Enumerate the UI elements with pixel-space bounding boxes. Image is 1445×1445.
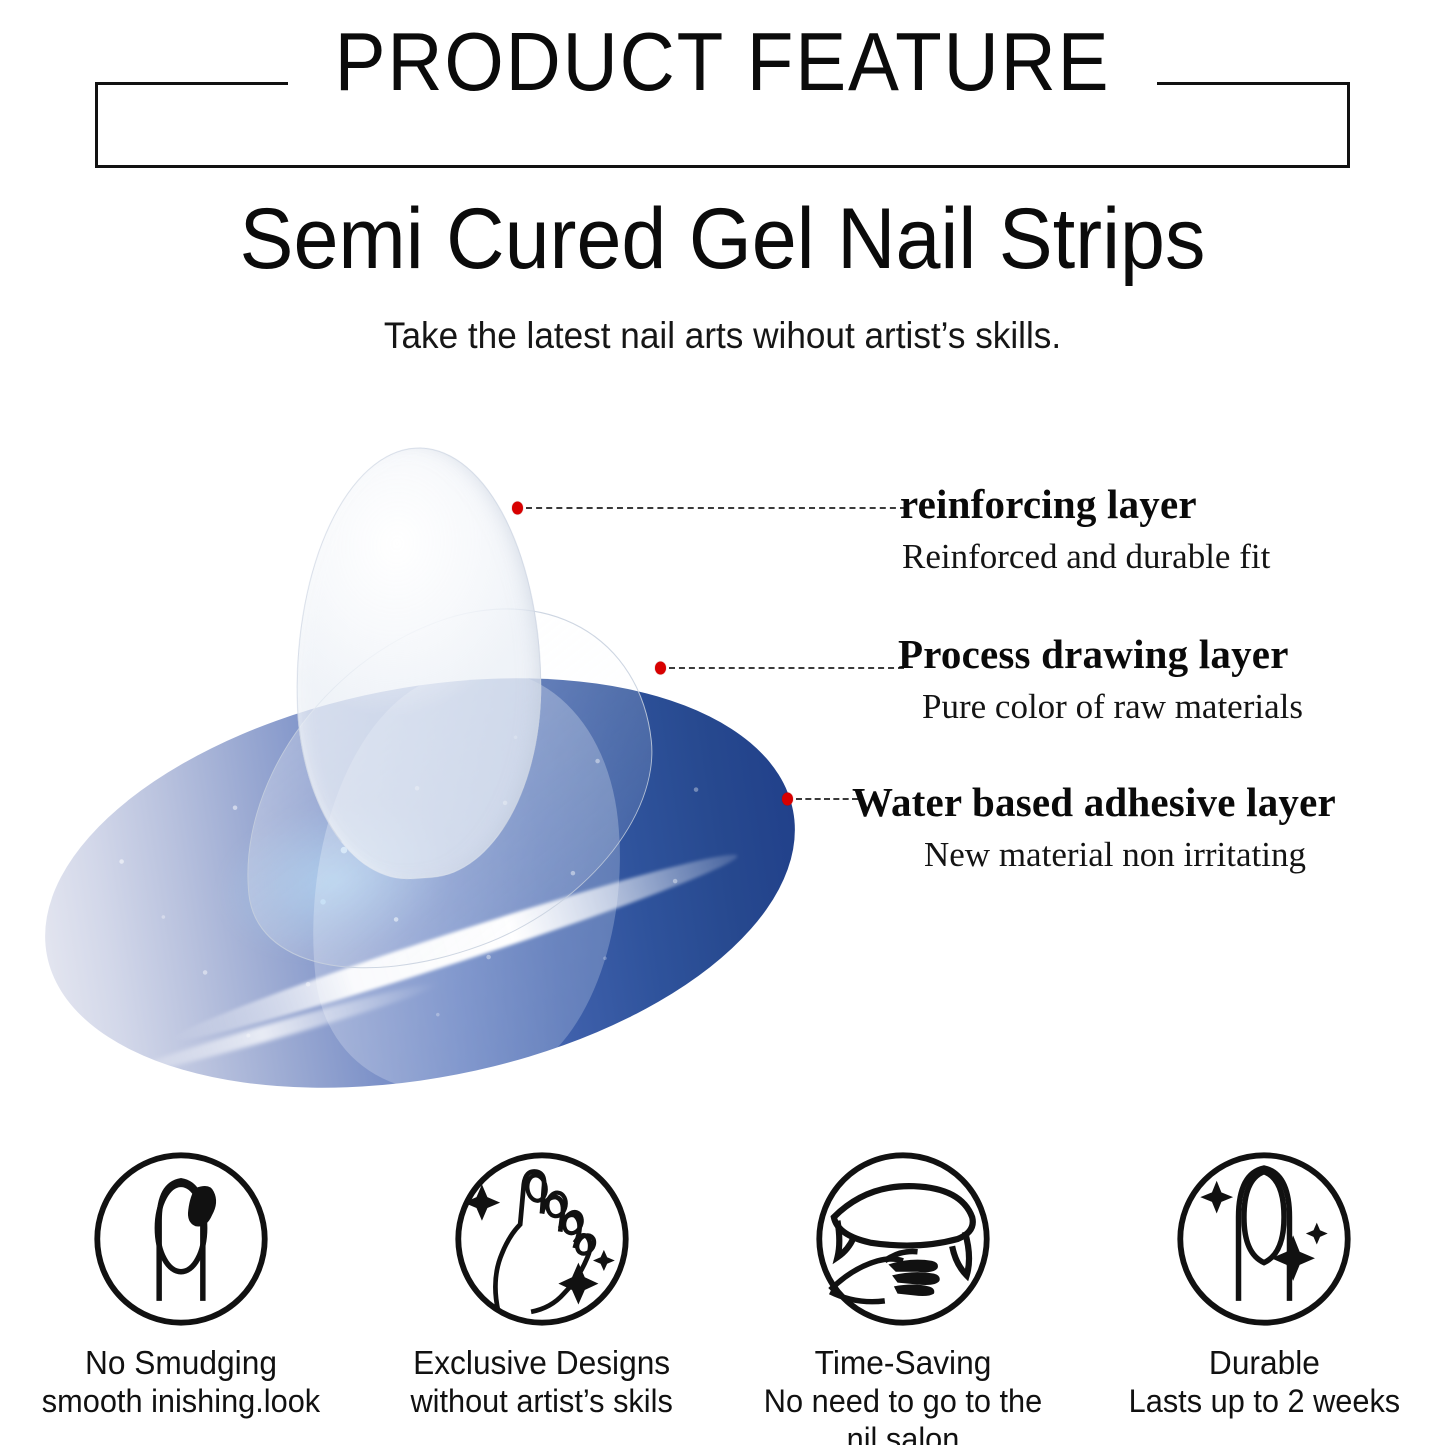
nail-polish-brush-icon xyxy=(90,1148,272,1330)
banner-border-right xyxy=(1347,82,1350,168)
feature-subtitle: No need to go to the xyxy=(764,1383,1042,1421)
annotation-reinforcing-layer: reinforcing layer Reinforced and durable… xyxy=(900,482,1270,577)
callout-dot-icon xyxy=(655,662,666,675)
feature-title: Durable xyxy=(1129,1344,1401,1383)
feature-subtitle: without artist’s skils xyxy=(411,1383,673,1421)
callout-dot-icon xyxy=(512,502,523,515)
annotation-description: Reinforced and durable fit xyxy=(902,537,1270,577)
feature-item-exclusive-designs: Exclusive Designs without artist’s skils xyxy=(361,1148,722,1445)
reinforcing-layer-shape xyxy=(293,439,545,887)
page-title: Semi Cured Gel Nail Strips xyxy=(43,196,1401,284)
callout-line xyxy=(796,798,858,800)
feature-item-time-saving: Time-Saving No need to go to the nil sal… xyxy=(723,1148,1084,1445)
annotation-title: Process drawing layer xyxy=(898,632,1303,677)
page-subtitle: Take the latest nail arts wihout artist’… xyxy=(36,315,1409,357)
feature-title: Exclusive Designs xyxy=(411,1344,673,1383)
callout-line xyxy=(669,667,904,669)
annotation-description: New material non irritating xyxy=(924,835,1336,875)
product-illustration xyxy=(0,420,900,1120)
manicured-hand-sparkle-icon xyxy=(451,1148,633,1330)
banner-border-left xyxy=(95,82,98,168)
annotation-description: Pure color of raw materials xyxy=(922,687,1303,727)
product-feature-infographic: PRODUCT FEATURE Semi Cured Gel Nail Stri… xyxy=(0,0,1445,1445)
feature-title: No Smudging xyxy=(41,1344,319,1383)
feature-title: Time-Saving xyxy=(764,1344,1042,1383)
feature-caption: No Smudging smooth inishing.look xyxy=(36,1344,326,1421)
banner-border-bottom xyxy=(95,165,1350,168)
callout-dot-icon xyxy=(782,793,793,806)
banner-title: PRODUCT FEATURE xyxy=(145,20,1300,103)
glossy-nail-sparkle-icon xyxy=(1173,1148,1355,1330)
feature-item-no-smudging: No Smudging smooth inishing.look xyxy=(0,1148,361,1445)
annotation-adhesive-layer: Water based adhesive layer New material … xyxy=(852,780,1336,875)
banner-frame: PRODUCT FEATURE xyxy=(95,82,1350,168)
feature-item-durable: Durable Lasts up to 2 weeks xyxy=(1084,1148,1445,1445)
feature-subtitle-line-2: nil salon xyxy=(764,1421,1042,1445)
annotation-title: Water based adhesive layer xyxy=(852,780,1336,825)
feature-caption: Time-Saving No need to go to the nil sal… xyxy=(758,1344,1048,1445)
feature-subtitle: Lasts up to 2 weeks xyxy=(1129,1383,1401,1421)
feature-caption: Exclusive Designs without artist’s skils xyxy=(405,1344,678,1421)
callout-line xyxy=(526,507,906,509)
uv-lamp-hand-icon xyxy=(812,1148,994,1330)
feature-subtitle: smooth inishing.look xyxy=(41,1383,319,1421)
feature-list: No Smudging smooth inishing.look xyxy=(0,1148,1445,1445)
feature-caption: Durable Lasts up to 2 weeks xyxy=(1123,1344,1406,1421)
annotation-process-drawing-layer: Process drawing layer Pure color of raw … xyxy=(898,632,1303,727)
annotation-title: reinforcing layer xyxy=(900,482,1270,527)
